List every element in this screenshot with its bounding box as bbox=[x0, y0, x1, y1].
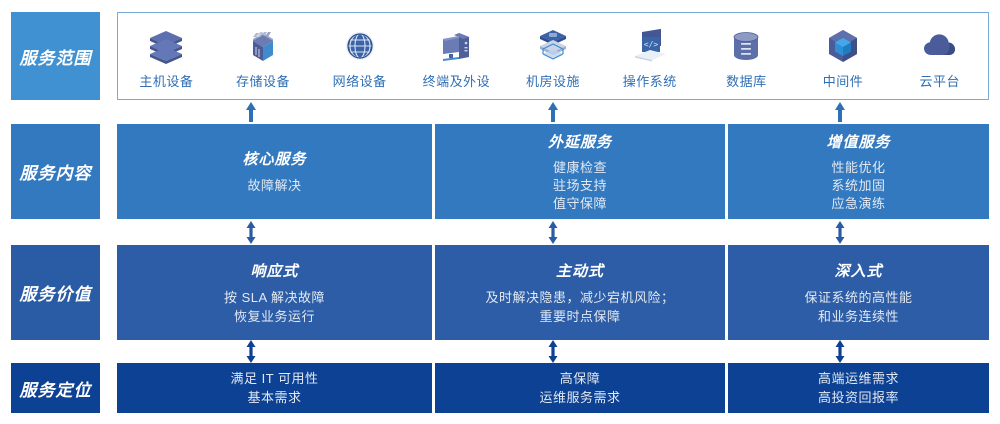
card-title: 增值服务 bbox=[826, 131, 890, 152]
content-card-value-added-service[interactable]: 增值服务 性能优化 系统加固 应急演练 bbox=[728, 124, 989, 219]
globe-network-icon bbox=[339, 24, 381, 68]
scope-item-network-equipment[interactable]: 网络设备 bbox=[311, 13, 408, 99]
scope-item-middleware[interactable]: 中间件 bbox=[795, 13, 892, 99]
row-label-service-content: 服务内容 bbox=[11, 124, 100, 219]
scope-item-label: 数据库 bbox=[726, 71, 767, 90]
scope-item-storage-equipment[interactable]: 存储设备 bbox=[215, 13, 312, 99]
cloud-icon bbox=[919, 24, 961, 68]
card-line: 健康检查 bbox=[553, 159, 607, 177]
position-card-high-assurance[interactable]: 高保障 运维服务需求 bbox=[435, 363, 725, 413]
arrow-up-down-icon bbox=[546, 340, 560, 363]
row-label-service-position: 服务定位 bbox=[11, 363, 100, 413]
service-framework-diagram: 服务范围 服务内容 服务价值 服务定位 bbox=[0, 0, 1000, 424]
laptop-code-icon: </> bbox=[629, 24, 671, 68]
position-card-basic-availability[interactable]: 满足 IT 可用性 基本需求 bbox=[117, 363, 432, 413]
server-stack-icon bbox=[145, 24, 187, 68]
card-line: 故障解决 bbox=[247, 176, 301, 195]
card-title: 主动式 bbox=[556, 260, 604, 281]
cube-middleware-icon bbox=[822, 24, 864, 68]
card-title: 核心服务 bbox=[242, 148, 306, 169]
storage-array-icon bbox=[242, 24, 284, 68]
arrow-up-icon bbox=[833, 102, 847, 122]
card-line: 性能优化 bbox=[831, 159, 885, 177]
row-label-service-value: 服务价值 bbox=[11, 245, 100, 340]
scope-item-host-equipment[interactable]: 主机设备 bbox=[118, 13, 215, 99]
database-cylinder-icon bbox=[725, 24, 767, 68]
scope-item-datacenter-facility[interactable]: 机房设施 bbox=[505, 13, 602, 99]
value-card-indepth[interactable]: 深入式 保证系统的高性能 和业务连续性 bbox=[728, 245, 989, 340]
arrow-up-down-icon bbox=[833, 221, 847, 244]
card-line: 重要时点保障 bbox=[539, 307, 620, 326]
scope-item-label: 存储设备 bbox=[236, 71, 290, 90]
scope-item-terminal-peripherals[interactable]: 终端及外设 bbox=[408, 13, 505, 99]
card-title: 深入式 bbox=[834, 260, 882, 281]
scope-item-label: 云平台 bbox=[919, 71, 960, 90]
card-line: 值守保障 bbox=[553, 195, 607, 213]
value-card-proactive[interactable]: 主动式 及时解决隐患，减少宕机风险； 重要时点保障 bbox=[435, 245, 725, 340]
card-line: 基本需求 bbox=[247, 388, 301, 407]
card-line: 系统加固 bbox=[831, 177, 885, 195]
desktop-pc-icon bbox=[435, 24, 477, 68]
svg-text:</>: </> bbox=[643, 40, 658, 49]
card-line: 保证系统的高性能 bbox=[804, 288, 912, 307]
datacenter-rack-icon bbox=[532, 24, 574, 68]
card-line: 高投资回报率 bbox=[818, 388, 899, 407]
card-line: 高端运维需求 bbox=[818, 369, 899, 388]
card-line: 运维服务需求 bbox=[539, 388, 620, 407]
scope-item-label: 操作系统 bbox=[623, 71, 677, 90]
card-title: 响应式 bbox=[250, 260, 298, 281]
row-label-service-scope: 服务范围 bbox=[11, 12, 100, 100]
scope-item-label: 网络设备 bbox=[333, 71, 387, 90]
card-line: 驻场支持 bbox=[553, 177, 607, 195]
card-line: 按 SLA 解决故障 bbox=[224, 288, 325, 307]
content-card-core-service[interactable]: 核心服务 故障解决 bbox=[117, 124, 432, 219]
arrow-up-down-icon bbox=[833, 340, 847, 363]
scope-item-label: 机房设施 bbox=[526, 71, 580, 90]
card-line: 及时解决隐患，减少宕机风险； bbox=[485, 288, 674, 307]
arrow-up-icon bbox=[244, 102, 258, 122]
content-card-extended-service[interactable]: 外延服务 健康检查 驻场支持 值守保障 bbox=[435, 124, 725, 219]
scope-item-operating-system[interactable]: </> 操作系统 bbox=[601, 13, 698, 99]
arrow-up-icon bbox=[546, 102, 560, 122]
service-scope-panel: 主机设备 存储设备 bbox=[117, 12, 989, 100]
arrow-up-down-icon bbox=[546, 221, 560, 244]
card-line: 满足 IT 可用性 bbox=[230, 369, 318, 388]
row-label-text: 服务价值 bbox=[20, 280, 92, 305]
row-label-text: 服务定位 bbox=[20, 376, 92, 401]
card-line: 恢复业务运行 bbox=[234, 307, 315, 326]
card-line: 和业务连续性 bbox=[818, 307, 899, 326]
position-card-high-end-ops[interactable]: 高端运维需求 高投资回报率 bbox=[728, 363, 989, 413]
value-card-responsive[interactable]: 响应式 按 SLA 解决故障 恢复业务运行 bbox=[117, 245, 432, 340]
arrow-up-down-icon bbox=[244, 340, 258, 363]
scope-item-label: 终端及外设 bbox=[423, 71, 491, 90]
row-label-text: 服务范围 bbox=[20, 44, 92, 69]
card-line: 高保障 bbox=[560, 369, 601, 388]
card-line: 应急演练 bbox=[831, 195, 885, 213]
scope-item-label: 主机设备 bbox=[139, 71, 193, 90]
arrow-up-down-icon bbox=[244, 221, 258, 244]
scope-item-database[interactable]: 数据库 bbox=[698, 13, 795, 99]
scope-item-label: 中间件 bbox=[823, 71, 864, 90]
card-title: 外延服务 bbox=[548, 131, 612, 152]
scope-item-cloud-platform[interactable]: 云平台 bbox=[891, 13, 988, 99]
row-label-text: 服务内容 bbox=[20, 159, 92, 184]
